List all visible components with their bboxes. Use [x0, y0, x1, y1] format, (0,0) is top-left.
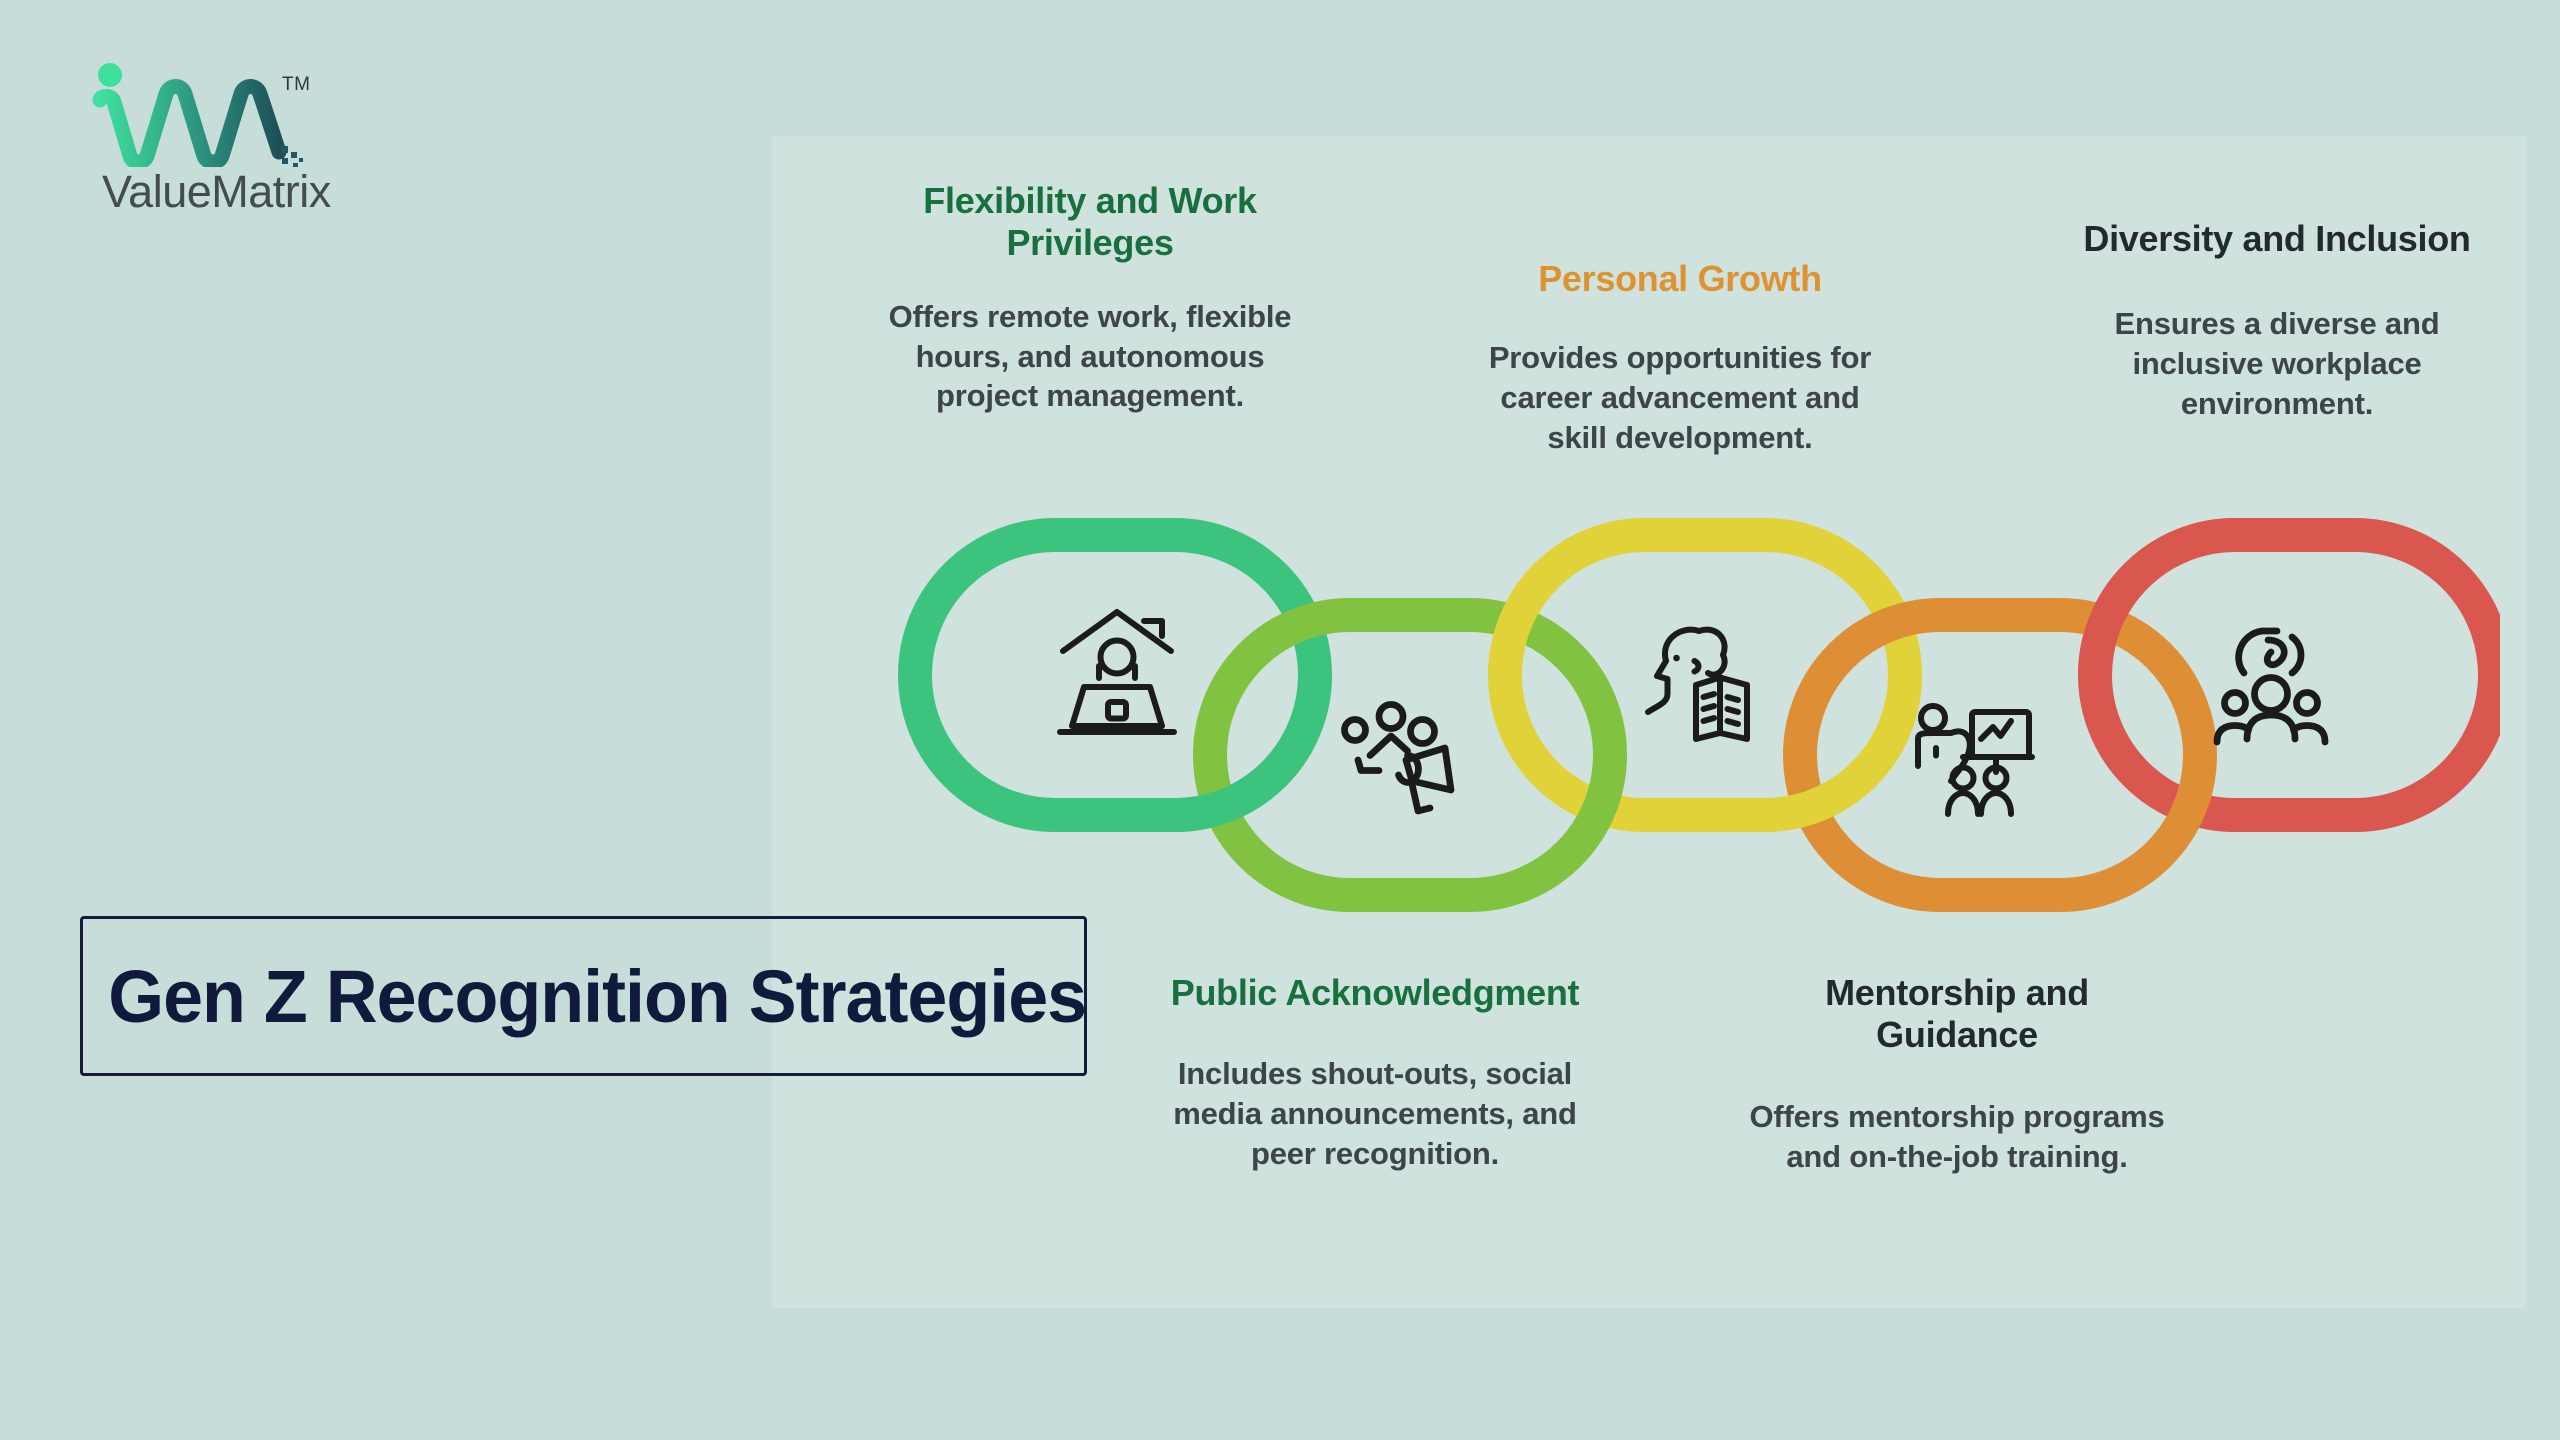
- diverse-group-icon: [2208, 610, 2358, 760]
- block-flexibility: Flexibility and Work Privileges Offers r…: [880, 180, 1300, 416]
- trademark-symbol: TM: [282, 74, 310, 96]
- block-public-acknowledgment-body: Includes shout-outs, social media announ…: [1160, 1054, 1590, 1173]
- work-from-home-icon: [1042, 600, 1192, 750]
- block-flexibility-body: Offers remote work, flexible hours, and …: [880, 297, 1300, 416]
- page-title: Gen Z Recognition Strategies: [83, 954, 1086, 1039]
- megaphone-people-icon: [1328, 688, 1478, 838]
- block-diversity-inclusion: Diversity and Inclusion Ensures a divers…: [2062, 218, 2492, 423]
- block-public-acknowledgment: Public Acknowledgment Includes shout-out…: [1160, 972, 1590, 1173]
- block-personal-growth: Personal Growth Provides opportunities f…: [1470, 258, 1890, 457]
- block-mentorship-guidance-body: Offers mentorship programs and on-the-jo…: [1742, 1097, 2172, 1176]
- mentor-presentation-icon: [1906, 688, 2056, 838]
- block-mentorship-guidance: Mentorship and Guidance Offers mentorshi…: [1742, 972, 2172, 1176]
- block-diversity-inclusion-heading: Diversity and Inclusion: [2062, 218, 2492, 260]
- brand-wordmark: ValueMatrix: [102, 166, 331, 218]
- block-public-acknowledgment-heading: Public Acknowledgment: [1160, 972, 1590, 1014]
- block-flexibility-heading: Flexibility and Work Privileges: [880, 180, 1300, 265]
- person-reading-book-icon: [1630, 610, 1780, 760]
- brand-logo: TM ValueMatrix: [92, 62, 342, 212]
- page-title-box: Gen Z Recognition Strategies: [80, 916, 1087, 1076]
- block-mentorship-guidance-heading: Mentorship and Guidance: [1742, 972, 2172, 1057]
- chain-diagram: [860, 510, 2500, 930]
- block-personal-growth-body: Provides opportunities for career advanc…: [1470, 338, 1890, 457]
- block-personal-growth-heading: Personal Growth: [1470, 258, 1890, 300]
- block-diversity-inclusion-body: Ensures a diverse and inclusive workplac…: [2062, 304, 2492, 423]
